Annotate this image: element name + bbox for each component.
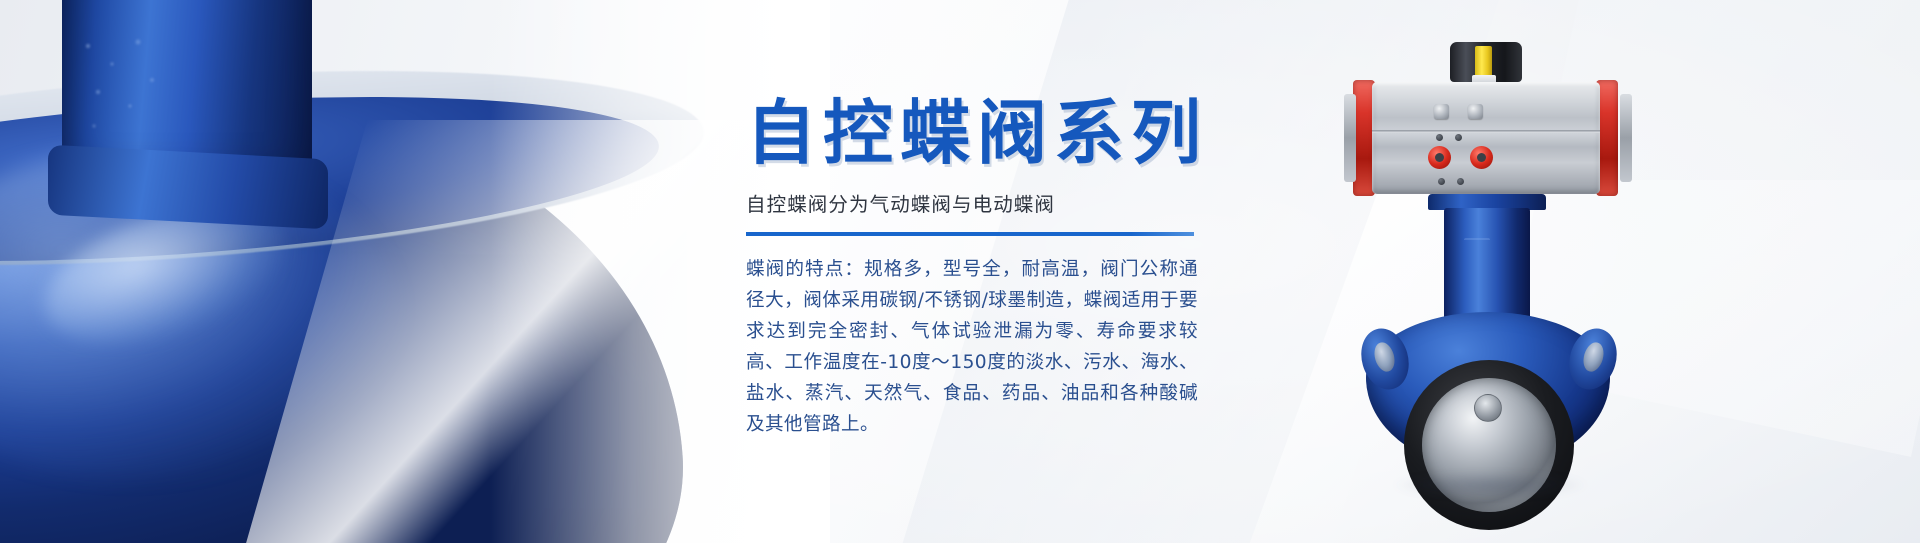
pneumatic-butterfly-valve-image: [1338, 42, 1638, 472]
hero-valve-photo: [0, 0, 830, 543]
actuator-vent-port-4: [1457, 178, 1464, 185]
actuator-vent-port-3: [1438, 178, 1445, 185]
product-drop-shadow: [1390, 472, 1590, 498]
banner-description: 蝶阀的特点：规格多，型号全，耐高温，阀门公称通径大，阀体采用碳钢/不锈钢/球墨制…: [746, 254, 1198, 440]
divider-rule: [746, 232, 1194, 236]
banner-subtitle: 自控蝶阀分为气动蝶阀与电动蝶阀: [746, 188, 1306, 217]
actuator-body-groove: [1372, 130, 1600, 133]
actuator-cylinder-body: [1372, 82, 1600, 194]
actuator-air-port-left: [1428, 146, 1451, 169]
product-banner: 自控蝶阀系列 自控蝶阀分为气动蝶阀与电动蝶阀 蝶阀的特点：规格多，型号全，耐高温…: [0, 0, 1920, 543]
actuator-air-port-right: [1470, 146, 1493, 169]
hero-valve-stem-texture: [78, 34, 166, 144]
actuator-end-plate-left: [1344, 94, 1356, 182]
banner-copy-block: 自控蝶阀系列 自控蝶阀分为气动蝶阀与电动蝶阀 蝶阀的特点：规格多，型号全，耐高温…: [746, 96, 1306, 440]
banner-title: 自控蝶阀系列: [746, 96, 1306, 172]
valve-disc-hub-badge: [1474, 394, 1502, 422]
actuator-bolt-right: [1468, 104, 1483, 119]
actuator-vent-port-1: [1436, 134, 1443, 141]
actuator-bolt-left: [1434, 104, 1449, 119]
actuator-vent-port-2: [1455, 134, 1462, 141]
actuator-end-plate-right: [1620, 94, 1632, 182]
hero-valve-stem-flange: [48, 145, 328, 230]
valve-neck-casting-marks: [1464, 238, 1490, 302]
